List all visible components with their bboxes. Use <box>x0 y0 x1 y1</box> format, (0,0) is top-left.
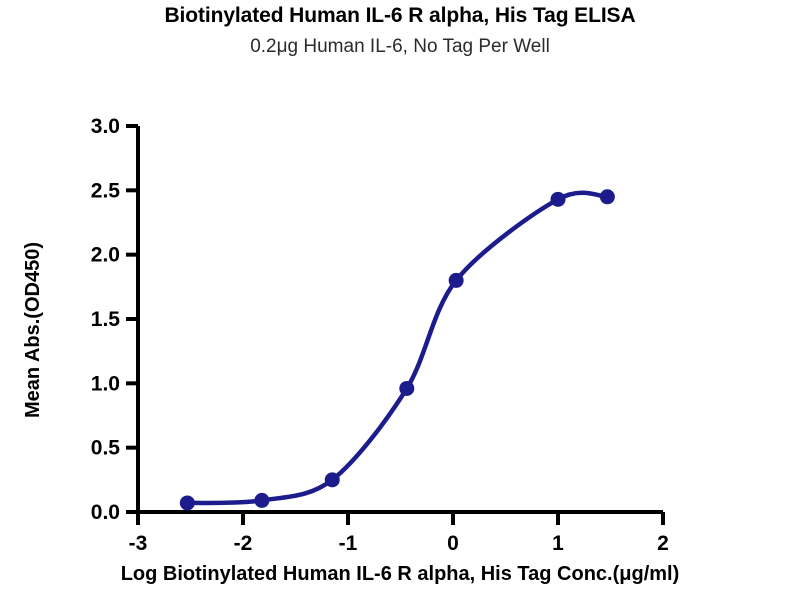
x-axis-ticks: -3-2-1012 <box>129 512 669 555</box>
data-point <box>449 273 464 288</box>
data-point <box>399 381 414 396</box>
y-tick-label: 0.0 <box>91 501 120 524</box>
data-point <box>254 493 269 508</box>
y-tick-label: 2.5 <box>91 179 121 202</box>
x-tick-label: 2 <box>657 532 669 555</box>
data-curve <box>187 193 607 503</box>
y-axis-ticks: 0.00.51.01.52.02.53.0 <box>91 115 138 524</box>
y-tick-label: 2.0 <box>91 244 120 267</box>
x-axis-label: Log Biotinylated Human IL-6 R alpha, His… <box>0 563 800 586</box>
chart-figure: Biotinylated Human IL-6 R alpha, His Tag… <box>0 0 800 600</box>
x-tick-label: -3 <box>129 532 148 555</box>
x-tick-label: -2 <box>234 532 253 555</box>
x-tick-label: 0 <box>447 532 459 555</box>
y-tick-label: 1.5 <box>91 308 121 331</box>
data-point <box>180 495 195 510</box>
data-point-markers <box>180 189 615 510</box>
data-point <box>325 472 340 487</box>
x-tick-label: 1 <box>552 532 564 555</box>
axis-lines <box>138 126 663 512</box>
data-point <box>600 189 615 204</box>
x-tick-label: -1 <box>339 532 358 555</box>
plot-area: 0.00.51.01.52.02.53.0 -3-2-1012 <box>0 0 800 600</box>
y-tick-label: 3.0 <box>91 115 120 138</box>
data-point <box>551 192 566 207</box>
y-tick-label: 1.0 <box>91 372 120 395</box>
y-tick-label: 0.5 <box>91 437 121 460</box>
